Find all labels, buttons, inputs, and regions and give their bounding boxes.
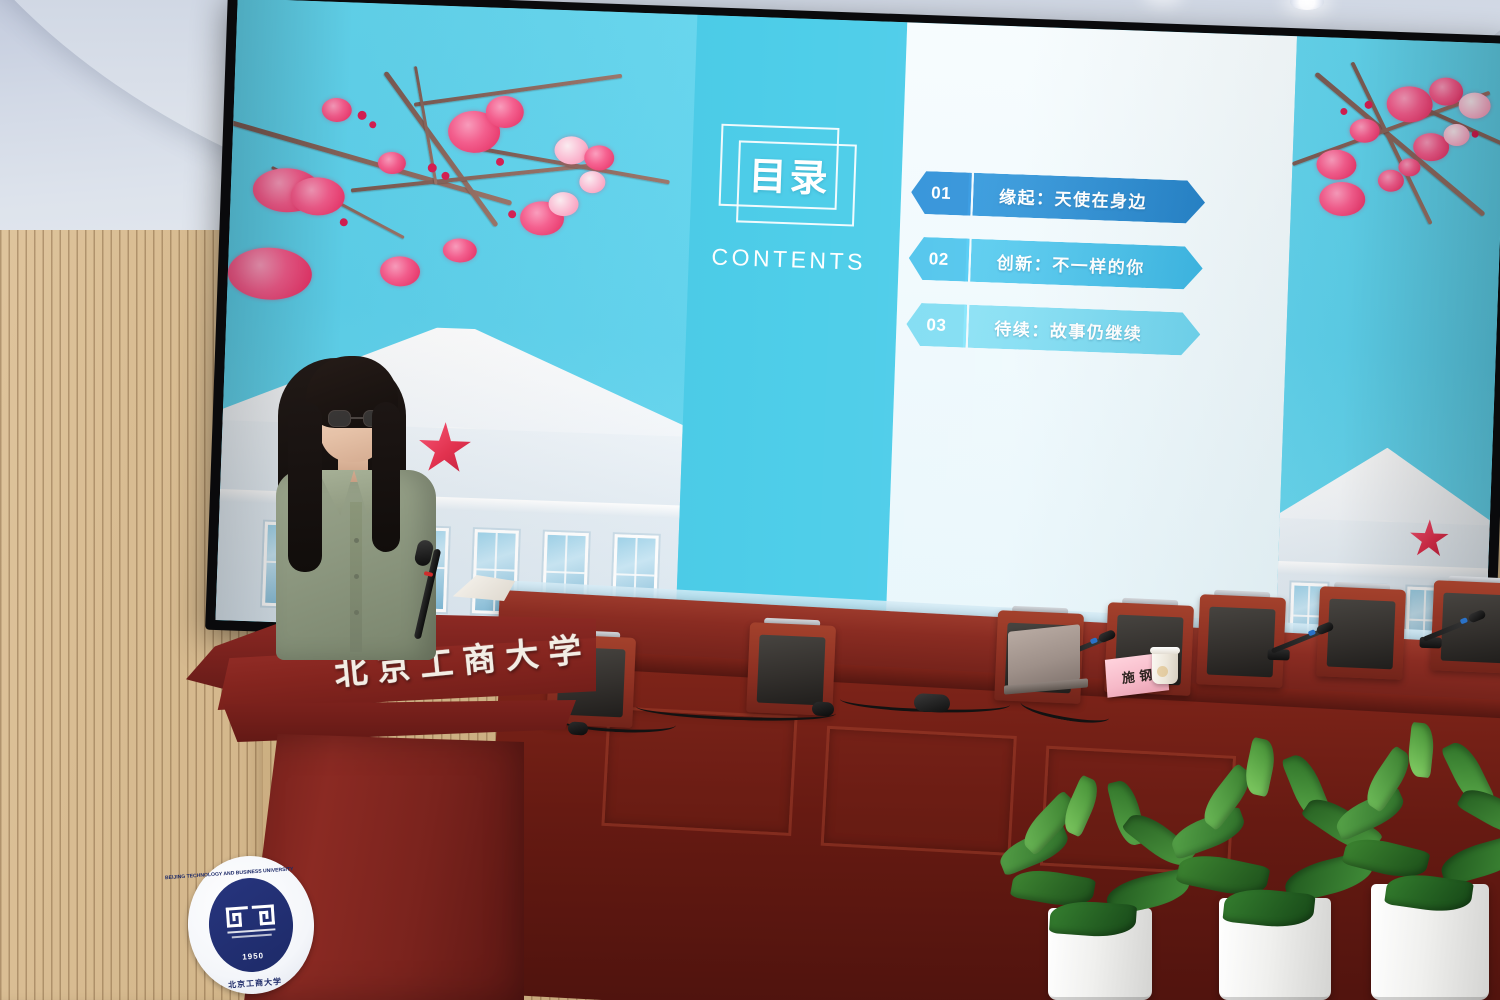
contents-item-number: 01 [910,171,971,216]
table-panel-rect [821,726,1017,856]
laptop-lid [1008,624,1080,688]
desk-puck [914,693,951,713]
slide-title-panel: 目录 CONTENTS [675,15,907,644]
gooseneck-microphone[interactable] [1267,619,1339,669]
cable-clip [812,701,835,717]
shirt-button [354,538,359,543]
conference-hall-photo: 目录 CONTENTS 01 缘起：天使在身边 02 创新：不一样的你 03 待… [0,0,1500,1000]
microphone-capsule [1467,609,1486,624]
chair-pad [1207,607,1276,678]
gooseneck-microphone[interactable] [1419,607,1491,657]
university-emblem: BEIJING TECHNOLOGY AND BUSINESS UNIVERSI… [183,852,318,998]
contents-item-label: 待续：故事仍继续 [968,305,1201,356]
contents-item-number: 02 [908,237,969,282]
contents-item-02[interactable]: 02 创新：不一样的你 [908,237,910,280]
presenter-hair-strand [372,402,400,552]
slide-right-image [1275,36,1500,665]
potted-plant [1330,730,1500,1000]
paper-cup[interactable] [1152,650,1178,684]
laptop[interactable] [1008,628,1084,692]
presenter [262,352,442,652]
plant-leaf [1406,722,1436,778]
chair-pad [757,635,826,706]
slide-contents-panel: 01 缘起：天使在身边 02 创新：不一样的你 03 待续：故事仍继续 [885,22,1297,658]
contents-item-03[interactable]: 03 待续：故事仍继续 [906,302,908,345]
shirt-button [354,610,359,615]
presenter-hair-strand [288,402,322,572]
shirt-button [354,574,359,579]
emblem-glyph-icon [223,900,278,950]
microphone-capsule [1097,629,1116,644]
contents-item-label: 缘起：天使在身边 [972,173,1205,224]
microphone-capsule [1315,621,1334,636]
emblem-ring-text-en: BEIJING TECHNOLOGY AND BUSINESS UNIVERSI… [165,866,294,880]
contents-item-01[interactable]: 01 缘起：天使在身边 [910,171,912,214]
slide-title-en: CONTENTS [698,243,879,276]
contents-item-number: 03 [906,302,967,347]
podium-lip [208,700,576,742]
contents-item-label: 创新：不一样的你 [970,239,1203,290]
slide-title-cn: 目录 [719,144,861,204]
